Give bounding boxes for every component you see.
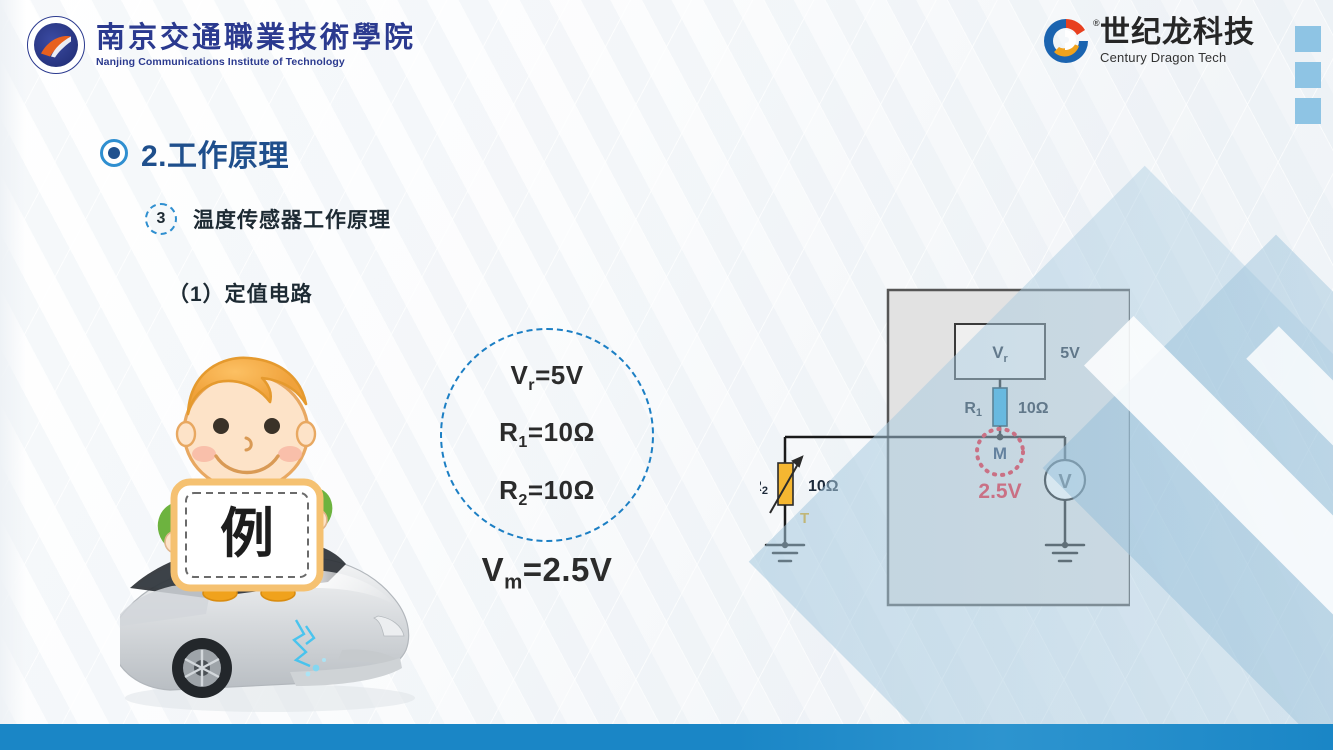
- registered-mark: ®: [1093, 18, 1100, 28]
- page-title: 2.工作原理: [141, 131, 289, 175]
- decor-square: [1295, 62, 1321, 88]
- subsection-title: 温度传感器工作原理: [193, 204, 391, 234]
- formula-subscript: 2: [518, 491, 527, 509]
- formula-symbol: V: [510, 360, 528, 390]
- node-voltage-reading: 2.5V: [978, 480, 1021, 503]
- formula-circle: Vr=5V R1=10Ω R2=10Ω: [440, 328, 654, 542]
- bullseye-icon: [100, 139, 128, 167]
- circuit-diagram: Vr 5V R1 10Ω M 2.5V V: [760, 280, 1130, 620]
- subsection-group: 3 温度传感器工作原理: [145, 203, 391, 235]
- background-left-edge: [0, 0, 26, 750]
- formula-value: =2.5V: [523, 551, 613, 588]
- voltmeter-label: V: [1058, 471, 1072, 493]
- formula-result-vm: Vm=2.5V: [440, 551, 654, 595]
- vr-subscript: r: [1004, 353, 1009, 365]
- formula-value: =5V: [535, 360, 584, 390]
- school-seal-swoosh-icon: [39, 33, 73, 59]
- r1-resistor: [993, 388, 1007, 426]
- decor-ribbon-highlight: [1246, 326, 1333, 750]
- r2-label: R2: [760, 478, 768, 497]
- slide-canvas: 南京交通職業技術學院 Nanjing Communications Instit…: [0, 0, 1333, 750]
- slide-header: 南京交通職業技術學院 Nanjing Communications Instit…: [0, 0, 1333, 100]
- illustration-boy-on-car: 例: [120, 330, 420, 720]
- school-name-cn: 南京交通職業技術學院: [96, 22, 416, 53]
- formula-value: =10Ω: [528, 475, 595, 505]
- supply-voltage-label: 5V: [1060, 345, 1080, 362]
- decor-square: [1295, 98, 1321, 124]
- cartoon-boy-icon: 例: [164, 358, 327, 601]
- school-seal-icon: [27, 16, 85, 74]
- brand-logo-group: ® 世纪龙科技 Century Dragon Tech: [1041, 16, 1255, 66]
- brand-name-cn: 世纪龙科技: [1100, 18, 1255, 48]
- decor-square: [1295, 26, 1321, 52]
- r1-value-label: 10Ω: [1018, 400, 1049, 417]
- item-title: （1）定值电路: [168, 278, 313, 308]
- formula-line-r1: R1=10Ω: [499, 417, 595, 452]
- sign-text: 例: [220, 501, 274, 565]
- formula-symbol: R: [499, 417, 518, 447]
- formula-value: =10Ω: [528, 417, 595, 447]
- r2-value-label: 10Ω: [808, 478, 839, 495]
- school-name-block: 南京交通職業技術學院 Nanjing Communications Instit…: [96, 22, 416, 68]
- formula-symbol: V: [482, 551, 505, 588]
- vr-symbol: V: [992, 343, 1004, 362]
- formula-subscript: m: [504, 571, 523, 594]
- step-number-label: 3: [157, 210, 166, 228]
- section-title-group: 2.工作原理: [100, 131, 289, 175]
- formula-line-r2: R2=10Ω: [499, 475, 595, 510]
- brand-name-en: Century Dragon Tech: [1100, 50, 1255, 65]
- formula-subscript: 1: [518, 434, 527, 452]
- thermistor-temp-label: T: [800, 510, 809, 527]
- century-dragon-swirl-icon: ®: [1041, 16, 1091, 66]
- brand-text-block: 世纪龙科技 Century Dragon Tech: [1100, 18, 1255, 65]
- school-logo-group: 南京交通職業技術學院 Nanjing Communications Instit…: [27, 16, 416, 74]
- footer-bar: [0, 724, 1333, 750]
- school-name-en: Nanjing Communications Institute of Tech…: [96, 56, 416, 68]
- step-number-badge: 3: [145, 203, 177, 235]
- decor-squares: [1295, 26, 1321, 124]
- node-label: M: [993, 444, 1007, 463]
- formula-line-vr: Vr=5V: [510, 360, 583, 395]
- formula-symbol: R: [499, 475, 518, 505]
